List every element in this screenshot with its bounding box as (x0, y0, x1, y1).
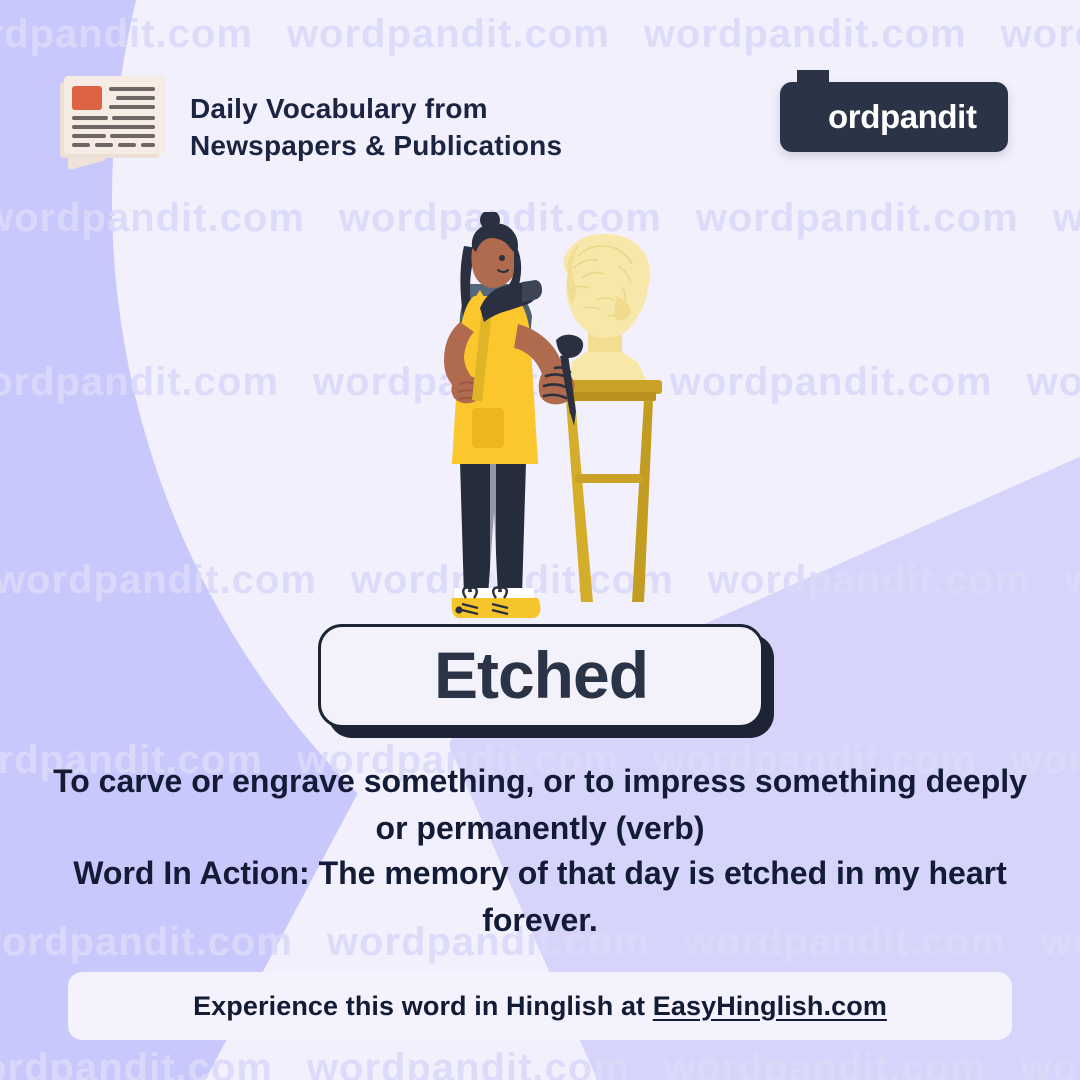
header: Daily Vocabulary from Newspapers & Publi… (0, 0, 1080, 190)
word-in-action-example: Word In Action: The memory of that day i… (36, 850, 1044, 944)
word-card-body: Etched (318, 624, 764, 728)
header-title-line1: Daily Vocabulary from (190, 90, 562, 127)
vocabulary-word: Etched (434, 642, 648, 708)
header-title-line2: Newspapers & Publications (190, 127, 562, 164)
word-definition: To carve or engrave something, or to imp… (36, 758, 1044, 852)
vocabulary-card-canvas: wordpandit.comwordpandit.comwordpandit.c… (0, 0, 1080, 1080)
sculptor-figure-shape (444, 212, 583, 618)
easyhinglish-link[interactable]: EasyHinglish.com (653, 991, 887, 1021)
hinglish-banner-prefix: Experience this word in Hinglish at (193, 991, 653, 1021)
header-title: Daily Vocabulary from Newspapers & Publi… (190, 90, 562, 164)
sculptor-illustration (418, 212, 698, 632)
newspaper-icon (54, 68, 176, 172)
word-card: Etched (318, 624, 764, 728)
wooden-stool-shape (552, 380, 662, 602)
bookmark-w-icon (794, 70, 832, 132)
hinglish-banner[interactable]: Experience this word in Hinglish at Easy… (68, 972, 1012, 1040)
marble-bust-shape (563, 234, 650, 388)
hinglish-banner-text: Experience this word in Hinglish at Easy… (193, 991, 887, 1022)
wordpandit-logo[interactable]: ordpandit (780, 82, 1008, 152)
wordpandit-logo-text: ordpandit (828, 98, 977, 136)
